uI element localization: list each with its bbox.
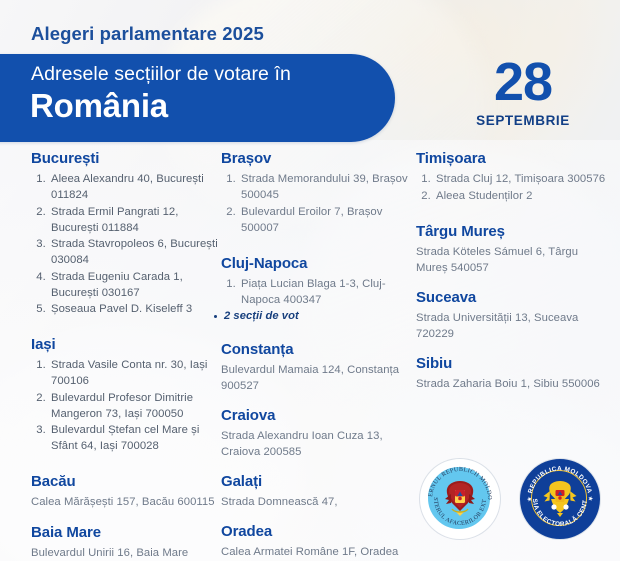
date-month: SEPTEMBRIE bbox=[458, 113, 588, 128]
city-name: Bacău bbox=[31, 473, 221, 491]
address-item: Bulevardul Eroilor 7, Brașov 500007 bbox=[239, 204, 411, 236]
city-block: SibiuStrada Zaharia Boiu 1, Sibiu 550006 bbox=[416, 355, 612, 392]
city-name: Suceava bbox=[416, 289, 612, 307]
city-name: Oradea bbox=[221, 523, 411, 541]
city-name: Timișoara bbox=[416, 150, 612, 168]
address-item: Piața Lucian Blaga 1-3, Cluj-Napoca 4003… bbox=[239, 276, 411, 308]
city-name: Constanța bbox=[221, 341, 411, 359]
address-item: Calea Mărășești 157, Bacău 600115 bbox=[31, 494, 221, 510]
polling-station-note: 2 secții de vot bbox=[213, 310, 411, 322]
address-column-3: TimișoaraStrada Cluj 12, Timișoara 30057… bbox=[416, 150, 612, 405]
city-block: OradeaCalea Armatei Române 1F, Oradea 41… bbox=[221, 523, 411, 561]
note-text: 2 secții de vot bbox=[213, 310, 411, 322]
city-name: Galați bbox=[221, 473, 411, 491]
moldova-eagle-emblem-icon bbox=[542, 477, 578, 521]
address-item: Strada Universității 13, Suceava 720229 bbox=[416, 310, 612, 342]
city-block: BrașovStrada Memorandului 39, Brașov 500… bbox=[221, 150, 411, 236]
city-block: Baia MareBulevardul Unirii 16, Baia Mare… bbox=[31, 524, 221, 561]
central-electoral-commission-logo: ★ REPUBLICA MOLDOVA ★ COMISIA ELECTORALĂ… bbox=[520, 459, 600, 539]
city-block: ConstanțaBulevardul Mamaia 124, Constanț… bbox=[221, 341, 411, 394]
city-name: Brașov bbox=[221, 150, 411, 168]
address-column-1: BucureștiAleea Alexandru 40, București 0… bbox=[31, 150, 221, 561]
address-item: Bulevardul Ștefan cel Mare și Sfânt 64, … bbox=[49, 422, 221, 454]
city-block: IașiStrada Vasile Conta nr. 30, Iași 700… bbox=[31, 336, 221, 454]
banner-country: România bbox=[30, 87, 168, 125]
address-item: Aleea Studenților 2 bbox=[434, 188, 612, 204]
address-list: Aleea Alexandru 40, București 011824Stra… bbox=[31, 171, 221, 317]
address-item: Aleea Alexandru 40, București 011824 bbox=[49, 171, 221, 203]
address-item: Strada Eugeniu Carada 1, București 03016… bbox=[49, 269, 221, 301]
city-block: GalațiStrada Domnească 47, bbox=[221, 473, 411, 510]
address-column-2: BrașovStrada Memorandului 39, Brașov 500… bbox=[221, 150, 411, 561]
city-name: Craiova bbox=[221, 407, 411, 425]
address-item: Șoseaua Pavel D. Kiseleff 3 bbox=[49, 301, 221, 317]
address-item: Strada Cluj 12, Timișoara 300576 bbox=[434, 171, 612, 187]
address-item: Strada Vasile Conta nr. 30, Iași 700106 bbox=[49, 357, 221, 389]
title-banner: Adresele secțiilor de votare în România bbox=[0, 54, 395, 142]
city-name: București bbox=[31, 150, 221, 168]
address-item: Bulevardul Mamaia 124, Constanța 900527 bbox=[221, 362, 411, 394]
city-block: BacăuCalea Mărășești 157, Bacău 600115 bbox=[31, 473, 221, 510]
moldova-coat-of-arms-icon bbox=[443, 478, 477, 520]
poster-canvas: Alegeri parlamentare 2025 Adresele secți… bbox=[0, 0, 620, 561]
city-block: CraiovaStrada Alexandru Ioan Cuza 13, Cr… bbox=[221, 407, 411, 460]
city-block: BucureștiAleea Alexandru 40, București 0… bbox=[31, 150, 221, 317]
address-item: Bulevardul Unirii 16, Baia Mare 430232 bbox=[31, 545, 221, 561]
address-list: Strada Vasile Conta nr. 30, Iași 700106B… bbox=[31, 357, 221, 454]
address-item: Strada Ermil Pangrati 12, București 0118… bbox=[49, 204, 221, 236]
city-name: Iași bbox=[31, 336, 221, 354]
event-kicker: Alegeri parlamentare 2025 bbox=[31, 23, 264, 45]
address-list: Piața Lucian Blaga 1-3, Cluj-Napoca 4003… bbox=[221, 276, 411, 308]
date-day: 28 bbox=[458, 57, 588, 108]
institution-logos: GUVERNUL REPUBLICII MOLDOVEI MINISTERUL … bbox=[420, 455, 610, 550]
ministry-foreign-affairs-logo: GUVERNUL REPUBLICII MOLDOVEI MINISTERUL … bbox=[420, 459, 500, 539]
address-item: Strada Memorandului 39, Brașov 500045 bbox=[239, 171, 411, 203]
address-item: Calea Armatei Române 1F, Oradea 410087 bbox=[221, 544, 411, 561]
city-name: Sibiu bbox=[416, 355, 612, 373]
address-item: Strada Domnească 47, bbox=[221, 494, 411, 510]
city-name: Cluj-Napoca bbox=[221, 255, 411, 273]
address-item: Strada Alexandru Ioan Cuza 13, Craiova 2… bbox=[221, 428, 411, 460]
address-item: Bulevardul Profesor Dimitrie Mangeron 73… bbox=[49, 390, 221, 422]
city-block: Târgu MureșStrada Köteles Sámuel 6, Târg… bbox=[416, 223, 612, 276]
address-item: Strada Zaharia Boiu 1, Sibiu 550006 bbox=[416, 376, 612, 392]
city-block: TimișoaraStrada Cluj 12, Timișoara 30057… bbox=[416, 150, 612, 204]
address-list: Strada Cluj 12, Timișoara 300576Aleea St… bbox=[416, 171, 612, 204]
city-name: Târgu Mureș bbox=[416, 223, 612, 241]
banner-subtitle: Adresele secțiilor de votare în bbox=[31, 63, 291, 86]
city-name: Baia Mare bbox=[31, 524, 221, 542]
election-date: 28 SEPTEMBRIE bbox=[458, 57, 588, 128]
city-block: SuceavaStrada Universității 13, Suceava … bbox=[416, 289, 612, 342]
address-item: Strada Köteles Sámuel 6, Târgu Mureș 540… bbox=[416, 244, 612, 276]
address-item: Strada Stavropoleos 6, București 030084 bbox=[49, 236, 221, 268]
city-block: Cluj-NapocaPiața Lucian Blaga 1-3, Cluj-… bbox=[221, 255, 411, 322]
address-list: Strada Memorandului 39, Brașov 500045Bul… bbox=[221, 171, 411, 236]
